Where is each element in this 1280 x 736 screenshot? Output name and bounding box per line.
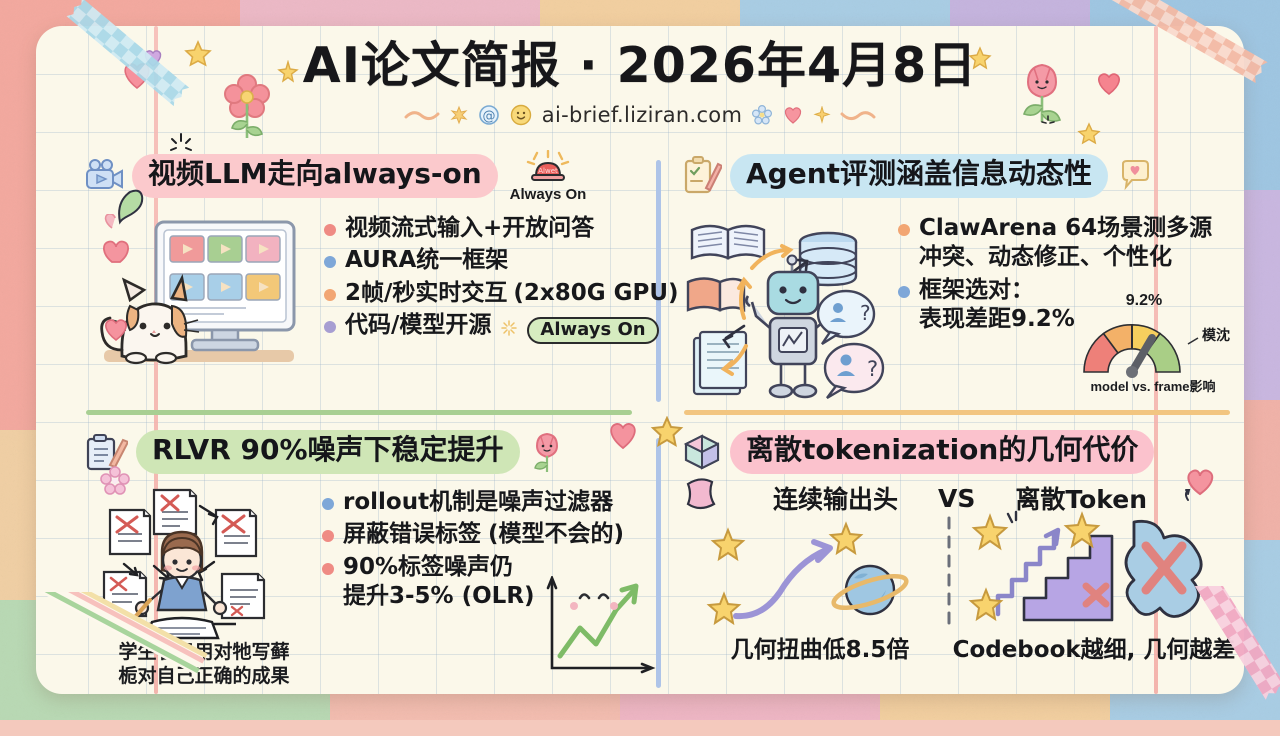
squiggle-left-icon <box>404 108 440 122</box>
bullet-row: 代码/模型开源 Always On <box>324 311 679 344</box>
svg-text:Alwet: Alwet <box>538 167 558 175</box>
flower-icon <box>100 466 130 496</box>
bullet-row: 2帧/秒实时交互 (2x80G GPU) <box>324 279 679 308</box>
bullet-text: AURA统一框架 <box>345 246 508 275</box>
washi-tape-striped <box>0 592 220 732</box>
gauge-dial-icon: 模沈 <box>1070 308 1240 380</box>
compare-vs-label: VS <box>938 484 975 513</box>
bullet-row: 屏蔽错误标签 (模型不会的) <box>322 520 624 549</box>
clipboard-pencil-icon <box>682 156 722 196</box>
compare-dashed-divider <box>946 516 952 626</box>
bullet-row: rollout机制是噪声过滤器 <box>322 488 624 517</box>
bullet-text: 视频流式输入+开放问答 <box>345 214 594 243</box>
bullet-text: rollout机制是噪声过滤器 <box>343 488 613 517</box>
always-on-pill: Always On <box>527 317 658 344</box>
flower-icon <box>222 72 272 142</box>
compare-left-label: 连续输出头 <box>773 480 898 516</box>
svg-text:?: ? <box>867 357 878 381</box>
svg-text:@: @ <box>482 109 495 124</box>
quadrant-title: Agent评测涵盖信息动态性 <box>730 154 1108 197</box>
at-icon: @ <box>478 104 500 126</box>
bullet-dot <box>324 289 336 301</box>
flower-icon <box>449 105 469 125</box>
bullet-text: 屏蔽错误标签 <box>343 520 481 549</box>
bullet-row: ClawArena 64场景测多源 冲突、动态修正、个性化 <box>898 214 1212 273</box>
always-on-badge: Alwet Always On <box>510 150 587 203</box>
bullet-list: 视频流式输入+开放问答 AURA统一框架 2帧/秒实时交互 (2x80G GPU… <box>324 214 679 347</box>
sparkle-icon <box>813 106 831 124</box>
star-icon <box>276 60 300 84</box>
tulip-icon <box>530 430 564 474</box>
svg-text:?: ? <box>860 301 871 325</box>
bullet-row: 视频流式输入+开放问答 <box>324 214 679 243</box>
divider-vertical-bottom <box>656 438 661 688</box>
star-icon <box>650 416 684 448</box>
site-url: ai-brief.liziran.com <box>542 103 742 127</box>
bullet-dot <box>324 224 336 236</box>
washi-tape-pink-gingham <box>1110 586 1280 736</box>
heart-icon <box>1178 464 1218 508</box>
quadrant-area: 视频LLM走向always-on Alwet Always On <box>62 152 1218 680</box>
cat-and-monitor-icon <box>96 214 304 404</box>
bullet-text: 代码/模型开源 <box>345 311 491 340</box>
flower-icon <box>751 104 773 126</box>
cube-icon <box>682 432 722 472</box>
heart-icon <box>782 105 804 125</box>
bullet-dot <box>324 256 336 268</box>
leaf-icon <box>114 186 146 226</box>
ribbon-icon <box>678 472 722 516</box>
quadrant-header: RLVR 90%噪声下稳定提升 <box>84 428 638 476</box>
footer-left: 几何扭曲低8.5倍 <box>690 630 950 664</box>
bullet-dot <box>324 321 336 333</box>
bullet-suffix: (2x80G GPU) <box>513 279 678 308</box>
quadrant-title: RLVR 90%噪声下稳定提升 <box>136 430 520 473</box>
bullet-text: 90%标签噪声仍 <box>343 553 535 582</box>
bullet-text: 2帧/秒实时交互 <box>345 279 507 308</box>
quadrant-agent-eval: Agent评测涵盖信息动态性 <box>682 152 1236 414</box>
quadrant-video-llm: 视频LLM走向always-on Alwet Always On <box>84 152 638 414</box>
gauge-widget: 9.2% 模沈 model vs. frame影响 <box>1070 292 1240 395</box>
siren-icon: Alwet <box>520 150 576 184</box>
bullet-dot <box>898 286 910 298</box>
bullet-dot <box>322 498 334 510</box>
quadrant-title: 离散tokenization的几何代价 <box>730 430 1154 473</box>
always-on-label: Always On <box>510 186 587 203</box>
bullet-dot <box>322 563 334 575</box>
smooth-curve-planet-icon <box>706 516 942 628</box>
washi-tape-pink-gingham <box>1070 0 1280 184</box>
heart-icon <box>606 420 640 450</box>
bullet-suffix: (模型不会的) <box>488 520 624 549</box>
star-icon <box>967 46 993 72</box>
bullet-text-line2: 冲突、动态修正、个性化 <box>919 243 1212 272</box>
quadrant-header: 离散tokenization的几何代价 <box>682 428 1236 476</box>
gauge-needle-label: 模沈 <box>1202 327 1230 344</box>
squiggle-right-icon <box>840 108 876 122</box>
robot-books-database-icon: ? ? <box>684 210 900 410</box>
rising-line-chart-icon <box>544 576 656 682</box>
bullet-dot <box>898 224 910 236</box>
sparkle-icon <box>1038 112 1058 132</box>
bullet-dot <box>322 530 334 542</box>
heart-icon <box>102 316 130 342</box>
bullet-text: ClawArena 64场景测多源 <box>919 214 1212 243</box>
sparkle-icon <box>500 319 518 337</box>
washi-tape-blue-gingham <box>6 0 216 178</box>
smiley-icon <box>509 103 533 127</box>
bullet-text-line2: 提升3-5% (OLR) <box>343 582 535 611</box>
bullet-row: AURA统一框架 <box>324 246 679 275</box>
gauge-caption: model vs. frame影响 <box>1066 376 1240 395</box>
